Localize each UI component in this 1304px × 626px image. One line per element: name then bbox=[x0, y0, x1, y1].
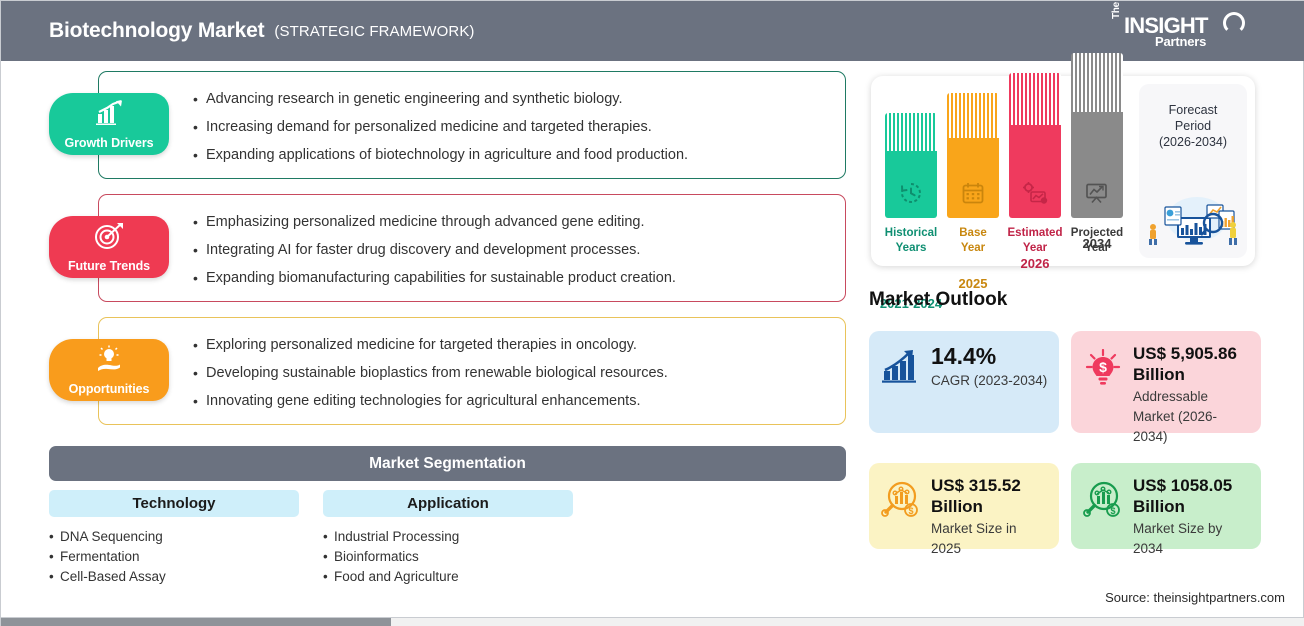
left-column: Growth Drivers Advancing research in gen… bbox=[1, 61, 861, 626]
segmentation-technology-title: Technology bbox=[49, 490, 299, 517]
list-item: Increasing demand for personalized medic… bbox=[193, 113, 833, 141]
target-dart-icon bbox=[93, 222, 125, 255]
dashboard-analytics-illustration bbox=[1143, 185, 1243, 252]
caption-line-1: Estimated bbox=[1008, 227, 1063, 239]
bar-stripe-top bbox=[947, 93, 999, 138]
forecast-line-1: Forecast bbox=[1169, 103, 1218, 117]
clock-history-icon bbox=[899, 181, 923, 210]
logo-the-text: The bbox=[1111, 2, 1122, 19]
growth-drivers-badge[interactable]: Growth Drivers bbox=[49, 93, 169, 155]
timeline-caption: Historical Years bbox=[885, 226, 937, 256]
bar-solid-body bbox=[947, 138, 999, 218]
bar-shape bbox=[1009, 73, 1061, 218]
bar-chart-arrow-icon bbox=[92, 99, 126, 130]
section-growth-drivers: Growth Drivers Advancing research in gen… bbox=[1, 61, 861, 189]
forecast-line-2: Period bbox=[1175, 119, 1211, 133]
list-item: Expanding applications of biotechnology … bbox=[193, 141, 833, 169]
list-item: Integrating AI for faster drug discovery… bbox=[193, 236, 833, 264]
lightbulb-dollar-icon: $ bbox=[1081, 343, 1125, 433]
card-cagr-label: CAGR (2023-2034) bbox=[931, 371, 1049, 391]
card-market-size-2025-value: US$ 315.52 Billion bbox=[931, 475, 1049, 517]
timeline-caption: Base Year bbox=[959, 226, 987, 256]
bar-stripe-top bbox=[885, 113, 937, 151]
timeline-caption: Estimated Year bbox=[1008, 226, 1063, 256]
list-item: DNA Sequencing bbox=[49, 527, 299, 547]
timeline-year-label: 2026 bbox=[1021, 256, 1050, 271]
forecast-period-text: Forecast Period (2026-2034) bbox=[1139, 102, 1247, 150]
card-market-size-2034: $ US$ 1058.05 Billion Market Size by 203… bbox=[1071, 463, 1261, 549]
bar-shape bbox=[1071, 53, 1123, 218]
caption-line-2: Year bbox=[1023, 242, 1047, 254]
future-trends-bullets: Emphasizing personalized medicine throug… bbox=[193, 208, 833, 292]
growth-chart-icon bbox=[879, 343, 923, 433]
bar-solid-body bbox=[1009, 125, 1061, 218]
magnifier-chart-dollar-icon: $ bbox=[1081, 475, 1125, 549]
list-item: Bioinformatics bbox=[323, 547, 573, 567]
bar-shape bbox=[885, 113, 937, 218]
growth-drivers-label: Growth Drivers bbox=[65, 136, 154, 150]
list-item: Emphasizing personalized medicine throug… bbox=[193, 208, 833, 236]
market-segmentation-title: Market Segmentation bbox=[369, 455, 526, 473]
page-subtitle: (STRATEGIC FRAMEWORK) bbox=[274, 23, 474, 40]
card-market-size-2034-value: US$ 1058.05 Billion bbox=[1133, 475, 1251, 517]
opportunities-bullets: Exploring personalized medicine for targ… bbox=[193, 331, 833, 415]
list-item: Exploring personalized medicine for targ… bbox=[193, 331, 833, 359]
card-cagr: 14.4% CAGR (2023-2034) bbox=[869, 331, 1059, 433]
card-market-size-2025-body: US$ 315.52 Billion Market Size in 2025 bbox=[931, 475, 1049, 549]
list-item: Innovating gene editing technologies for… bbox=[193, 387, 833, 415]
logo-swoosh-icon bbox=[1223, 12, 1245, 34]
horizontal-scrollbar-track[interactable] bbox=[1, 617, 1304, 626]
list-item: Expanding biomanufacturing capabilities … bbox=[193, 264, 833, 292]
section-opportunities: Opportunities Exploring personalized med… bbox=[1, 307, 861, 435]
magnifier-chart-dollar-icon: $ bbox=[879, 475, 923, 549]
svg-text:$: $ bbox=[1110, 506, 1115, 516]
growth-drivers-bullets: Advancing research in genetic engineerin… bbox=[193, 85, 833, 169]
svg-text:$: $ bbox=[1099, 359, 1107, 375]
segmentation-column-application: Application Industrial Processing Bioinf… bbox=[323, 490, 573, 587]
page-title: Biotechnology Market bbox=[49, 19, 264, 43]
segmentation-column-technology: Technology DNA Sequencing Fermentation C… bbox=[49, 490, 299, 587]
calendar-icon bbox=[961, 181, 985, 210]
caption-line-2: Year bbox=[1085, 242, 1109, 254]
bar-stripe-top bbox=[1071, 53, 1123, 112]
segmentation-technology-list: DNA Sequencing Fermentation Cell-Based A… bbox=[49, 527, 299, 587]
right-column: 2021-2024 bbox=[861, 61, 1304, 626]
forecast-period-panel: Forecast Period (2026-2034) bbox=[1139, 84, 1247, 258]
segmentation-application-title: Application bbox=[323, 490, 573, 517]
card-market-size-2025: $ US$ 315.52 Billion Market Size in 2025 bbox=[869, 463, 1059, 549]
future-trends-badge[interactable]: Future Trends bbox=[49, 216, 169, 278]
list-item: Advancing research in genetic engineerin… bbox=[193, 85, 833, 113]
lightbulb-hand-icon bbox=[92, 345, 126, 378]
bar-solid-body bbox=[885, 151, 937, 218]
opportunities-badge[interactable]: Opportunities bbox=[49, 339, 169, 401]
bar-stripe-top bbox=[1009, 73, 1061, 125]
market-segmentation-header: Market Segmentation bbox=[49, 446, 846, 481]
opportunities-label: Opportunities bbox=[69, 382, 150, 396]
infographic-page: Biotechnology Market (STRATEGIC FRAMEWOR… bbox=[0, 0, 1304, 626]
card-market-size-2034-label: Market Size by 2034 bbox=[1133, 519, 1251, 559]
forecast-line-3: (2026-2034) bbox=[1159, 135, 1227, 149]
caption-line-1: Base bbox=[959, 227, 987, 239]
segmentation-application-list: Industrial Processing Bioinformatics Foo… bbox=[323, 527, 573, 587]
card-addressable-market: $ US$ 5,905.86 Billion Addressable Marke… bbox=[1071, 331, 1261, 433]
market-timeline-chart: 2021-2024 bbox=[871, 76, 1255, 266]
card-addressable-market-body: US$ 5,905.86 Billion Addressable Market … bbox=[1133, 343, 1251, 433]
caption-line-1: Projected bbox=[1071, 227, 1123, 239]
insight-partners-logo: The INSIGHT Partners bbox=[1111, 12, 1251, 52]
svg-text:$: $ bbox=[908, 506, 913, 516]
gear-chart-icon bbox=[1022, 181, 1048, 210]
timeline-bars: 2021-2024 bbox=[879, 76, 1131, 266]
card-addressable-market-value: US$ 5,905.86 Billion bbox=[1133, 343, 1251, 385]
caption-line-1: Historical bbox=[885, 227, 937, 239]
timeline-caption: Projected Year bbox=[1071, 226, 1123, 256]
future-trends-label: Future Trends bbox=[68, 259, 150, 273]
list-item: Food and Agriculture bbox=[323, 567, 573, 587]
market-outlook-title: Market Outlook bbox=[869, 289, 1007, 311]
caption-line-2: Years bbox=[896, 242, 927, 254]
card-addressable-market-label: Addressable Market (2026-2034) bbox=[1133, 387, 1251, 447]
card-cagr-body: 14.4% CAGR (2023-2034) bbox=[931, 343, 1049, 433]
page-header: Biotechnology Market (STRATEGIC FRAMEWOR… bbox=[1, 1, 1304, 61]
source-text: Source: theinsightpartners.com bbox=[1105, 590, 1285, 605]
card-market-size-2034-body: US$ 1058.05 Billion Market Size by 2034 bbox=[1133, 475, 1251, 549]
caption-line-2: Year bbox=[961, 242, 985, 254]
card-market-size-2025-label: Market Size in 2025 bbox=[931, 519, 1049, 559]
list-item: Cell-Based Assay bbox=[49, 567, 299, 587]
list-item: Fermentation bbox=[49, 547, 299, 567]
monitor-chart-icon bbox=[1084, 181, 1110, 210]
bar-solid-body bbox=[1071, 112, 1123, 218]
list-item: Industrial Processing bbox=[323, 527, 573, 547]
section-future-trends: Future Trends Emphasizing personalized m… bbox=[1, 184, 861, 312]
bar-shape bbox=[947, 93, 999, 218]
logo-partners-text: Partners bbox=[1155, 34, 1206, 49]
card-cagr-value: 14.4% bbox=[931, 343, 1049, 369]
horizontal-scrollbar-thumb[interactable] bbox=[1, 618, 391, 626]
list-item: Developing sustainable bioplastics from … bbox=[193, 359, 833, 387]
